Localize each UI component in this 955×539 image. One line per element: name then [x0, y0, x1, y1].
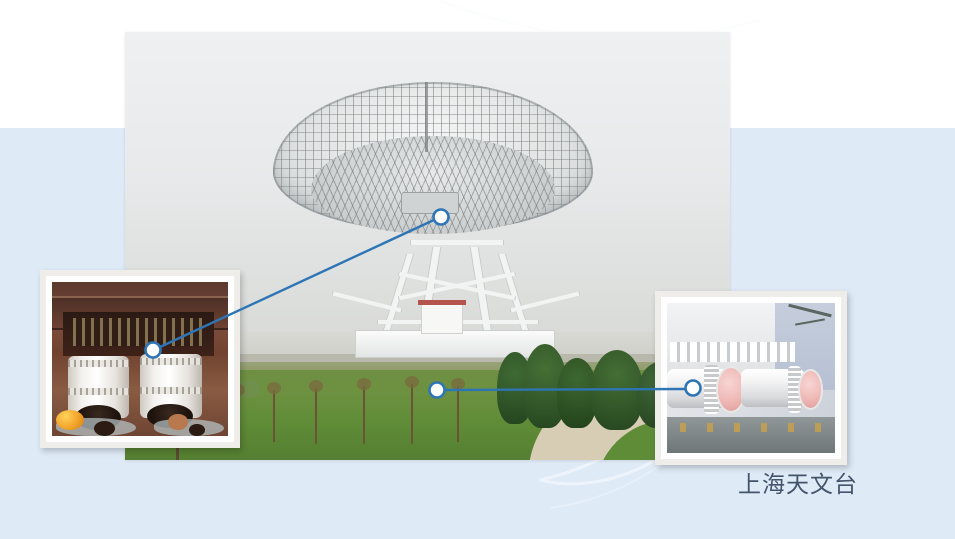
sapling-3 — [315, 388, 317, 444]
tower-brace-3 — [410, 240, 504, 245]
photo-caption: 上海天文台 — [738, 470, 858, 500]
concrete-base — [667, 417, 835, 453]
base-bolt-5 — [788, 423, 794, 432]
wall-fin-row — [670, 342, 794, 362]
base-bolt-2 — [707, 423, 713, 432]
inset-right-frame — [661, 297, 841, 459]
sapling-4 — [363, 386, 365, 444]
base-bolt-1 — [680, 423, 686, 432]
sapling-3-top — [309, 380, 323, 392]
control-hut — [421, 304, 463, 334]
dish-backing-truss — [311, 136, 555, 234]
cylinder-right-band-top — [140, 358, 202, 365]
sapling-6 — [457, 386, 459, 442]
inset-left-image — [52, 282, 228, 436]
inset-left-frame — [46, 276, 234, 442]
cylinder-right-band-mid — [140, 387, 202, 394]
sapling-5-top — [405, 376, 419, 388]
cylinder-left-band-mid — [68, 388, 130, 395]
inset-right-image — [667, 303, 835, 453]
inset-photo-right — [655, 291, 847, 465]
drive-unit-right-face — [798, 369, 823, 410]
control-hut-roof — [418, 300, 466, 305]
sapling-2-top — [267, 382, 281, 394]
orange-hardhat — [56, 410, 84, 430]
base-bolt-3 — [734, 423, 740, 432]
cylinder-left-band-top — [68, 360, 130, 367]
base-bolt-4 — [761, 423, 767, 432]
base-bolt-6 — [815, 423, 821, 432]
debris-blob-2 — [189, 424, 205, 436]
inset-photo-left — [40, 270, 240, 448]
sapling-6-top — [451, 378, 465, 390]
feed-mast — [425, 82, 428, 152]
worker-head — [168, 414, 187, 429]
slide-canvas: 上海天文台 — [0, 0, 955, 539]
azimuth-track-base — [355, 330, 555, 358]
sapling-5 — [411, 384, 413, 444]
sapling-2 — [273, 390, 275, 442]
gear-teeth-row — [73, 318, 203, 346]
sapling-4-top — [357, 378, 371, 390]
feed-cabin — [401, 192, 459, 214]
tree-right-canopy-4 — [591, 350, 643, 430]
telescope-dish — [273, 74, 593, 264]
